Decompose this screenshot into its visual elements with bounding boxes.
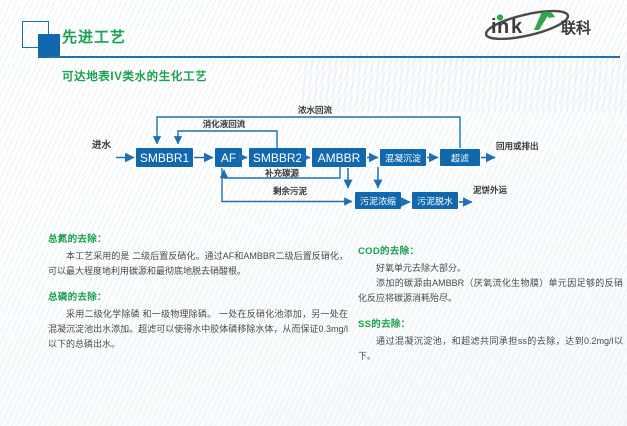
label-excess-sludge: 剩余污泥 (273, 186, 308, 196)
box-ambbr: AMBBR (312, 148, 366, 167)
box-coagulation: 混凝沉淀 (380, 149, 426, 166)
box-sludge-dewatering: 污泥脱水 (412, 192, 458, 209)
section-body: 本工艺采用的是 二级后置反硝化。通过AF和AMBBR二级后置反硝化，可以最大程度… (48, 249, 348, 279)
section-body: 通过混凝沉淀池，和超滤共同承担ss的去除，达到0.2mg/l以下。 (358, 334, 623, 364)
label-inlet: 进水 (92, 139, 112, 151)
section-total-nitrogen: 总氮的去除： 本工艺采用的是 二级后置反硝化。通过AF和AMBBR二级后置反硝化… (48, 232, 348, 279)
process-flow-diagram: SMBBR1 AF SMBBR2 AMBBR 混凝沉淀 超滤 污泥浓缩 污泥脱水 (0, 98, 627, 220)
label-concentrate-reflux: 浓水回流 (298, 105, 333, 115)
section-cod-continued: 添加的碳源由AMBBR（厌氧流化生物膜）单元因足够的反硝化反应将碳源消耗殆尽。 (358, 276, 623, 306)
box-af: AF (215, 148, 242, 167)
svg-text:AF: AF (221, 151, 236, 165)
svg-text:k: k (511, 16, 523, 38)
box-smbbr1: SMBBR1 (136, 148, 193, 167)
svg-text:i: i (491, 16, 497, 38)
label-cake-transport: 泥饼外运 (473, 185, 508, 195)
svg-text:SMBBR2: SMBBR2 (253, 151, 303, 165)
label-digestate-reflux: 消化液回流 (203, 119, 246, 129)
svg-text:混凝沉淀: 混凝沉淀 (385, 153, 421, 164)
svg-text:污泥浓缩: 污泥浓缩 (360, 196, 396, 207)
text-column-left: 总氮的去除： 本工艺采用的是 二级后置反硝化。通过AF和AMBBR二级后置反硝化… (48, 232, 348, 363)
page-title: 先进工艺 (62, 26, 126, 47)
label-carbon-source: 补充碳源 (264, 168, 300, 178)
section-heading: 总磷的去除： (48, 290, 348, 305)
box-smbbr2: SMBBR2 (249, 148, 306, 167)
svg-text:n: n (497, 16, 509, 38)
svg-text:超滤: 超滤 (451, 153, 469, 164)
section-heading: COD的去除： (358, 244, 623, 259)
svg-text:SMBBR1: SMBBR1 (140, 151, 190, 165)
section-body: 采用二级化学除磷 和一级物理除磷。 一处在反硝化池添加，另一处在混凝沉淀池出水添… (48, 307, 348, 352)
svg-text:AMBBR: AMBBR (318, 151, 361, 165)
digestate-reflux-line (178, 131, 277, 148)
link-logo: i n k 联科 (483, 8, 613, 40)
text-column-right: COD的去除： 好氧单元去除大部分。 添加的碳源由AMBBR（厌氧流化生物膜）单… (358, 244, 623, 375)
section-ss: SS的去除： 通过混凝沉淀池，和超滤共同承担ss的去除，达到0.2mg/l以下。 (358, 317, 623, 364)
logo-cn-text: 联科 (561, 19, 591, 37)
svg-text:污泥脱水: 污泥脱水 (417, 196, 453, 207)
decor-square-filled (38, 34, 60, 58)
header-divider (48, 56, 620, 58)
section-body: 好氧单元去除大部分。 (358, 261, 623, 276)
label-reuse-or-discharge: 回用或排出 (496, 141, 539, 151)
section-heading: 总氮的去除： (48, 232, 348, 247)
box-sludge-thickening: 污泥浓缩 (355, 192, 401, 209)
box-ultrafiltration: 超滤 (440, 149, 480, 166)
page-subtitle: 可达地表IV类水的生化工艺 (62, 68, 207, 84)
section-body: 添加的碳源由AMBBR（厌氧流化生物膜）单元因足够的反硝化反应将碳源消耗殆尽。 (358, 276, 623, 306)
section-cod: COD的去除： 好氧单元去除大部分。 (358, 244, 623, 276)
section-heading: SS的去除： (358, 317, 623, 332)
section-total-phosphorus: 总磷的去除： 采用二级化学除磷 和一级物理除磷。 一处在反硝化池添加，另一处在混… (48, 290, 348, 352)
